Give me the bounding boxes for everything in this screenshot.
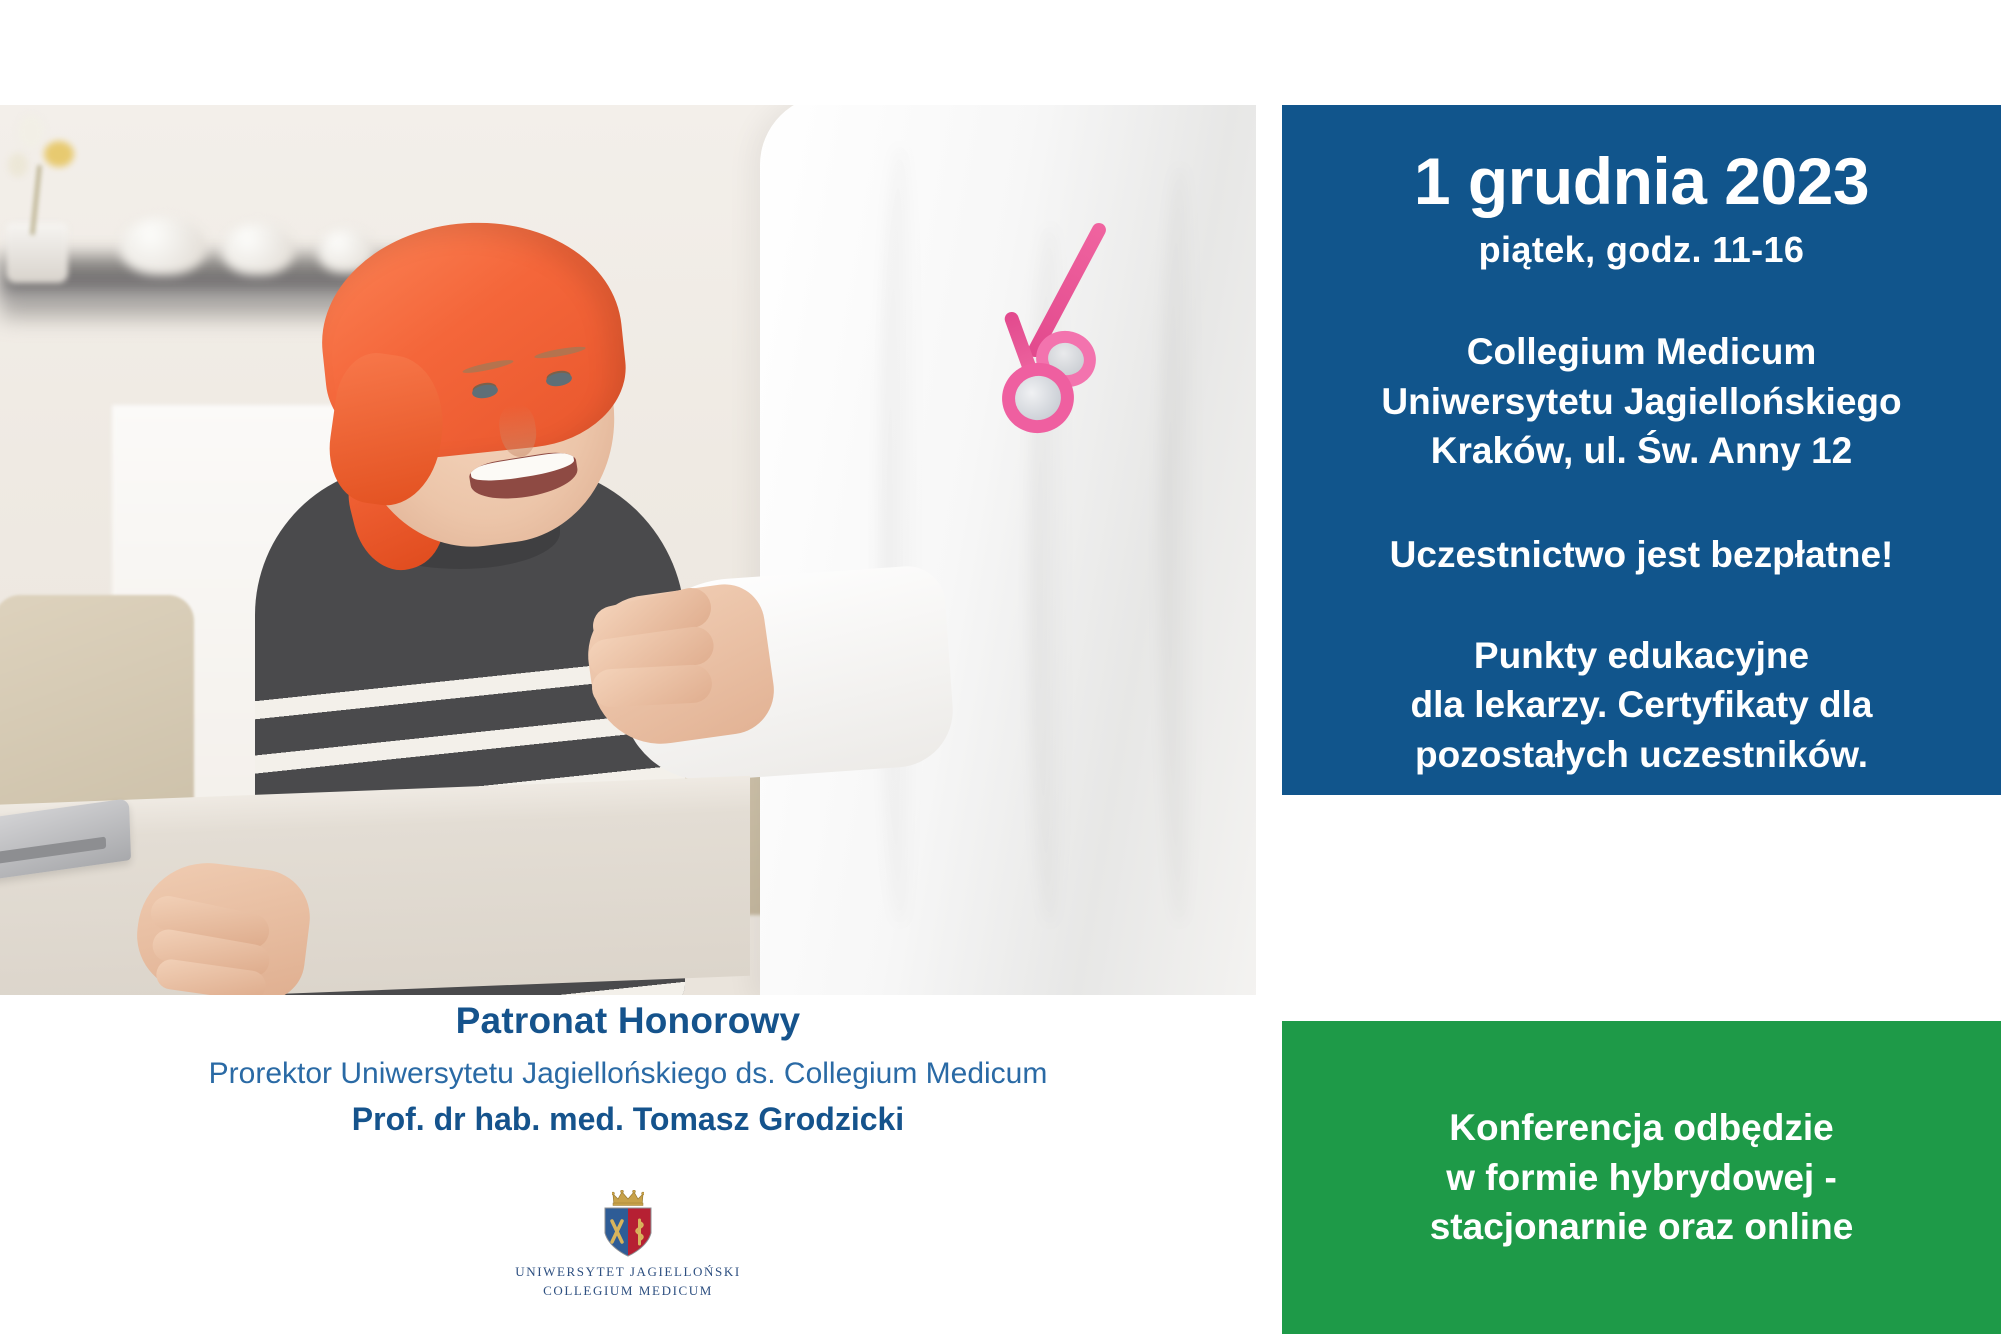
credits-line-2: dla lekarzy. Certyfikaty dla: [1316, 680, 1967, 729]
event-date: 1 grudnia 2023: [1316, 147, 1967, 216]
patronage-block: Patronat Honorowy Prorektor Uniwersytetu…: [0, 1000, 1256, 1138]
coat-fold: [1160, 165, 1200, 925]
patronage-person-name: Prof. dr hab. med. Tomasz Grodzicki: [0, 1101, 1256, 1138]
doctor-finger: [591, 664, 713, 708]
uj-logo-caption: UNIWERSYTET JAGIELLOŃSKI COLLEGIUM MEDIC…: [515, 1263, 741, 1301]
format-line-2: w formie hybrydowej -: [1430, 1153, 1854, 1203]
conference-poster: 1 grudnia 2023 piątek, godz. 11-16 Colle…: [0, 0, 2001, 1334]
conference-photo: [0, 105, 1256, 995]
uj-logo-line-1: UNIWERSYTET JAGIELLOŃSKI: [515, 1263, 741, 1282]
uj-collegium-medicum-logo: UNIWERSYTET JAGIELLOŃSKI COLLEGIUM MEDIC…: [0, 1190, 1256, 1301]
background-bowl: [222, 223, 294, 275]
crown-icon: [612, 1190, 644, 1206]
uj-logo-line-2: COLLEGIUM MEDICUM: [515, 1282, 741, 1301]
venue-line-3: Kraków, ul. Św. Anny 12: [1316, 426, 1967, 475]
background-flower: [44, 141, 74, 167]
venue-line-2: Uniwersytetu Jagiellońskiego: [1316, 377, 1967, 426]
credits-line-1: Punkty edukacyjne: [1316, 631, 1967, 680]
credits-line-3: pozostałych uczestników.: [1316, 730, 1967, 779]
conference-format-panel: Konferencja odbędzie w formie hybrydowej…: [1282, 1021, 2001, 1334]
event-day-time: piątek, godz. 11-16: [1316, 228, 1967, 271]
background-flower: [18, 115, 44, 149]
background-bowl: [120, 217, 206, 275]
venue-line-1: Collegium Medicum: [1316, 327, 1967, 376]
shield-icon: [604, 1207, 652, 1257]
format-line-3: stacjonarnie oraz online: [1430, 1202, 1854, 1252]
background-flower: [8, 153, 28, 177]
coat-fold: [880, 145, 920, 925]
event-info-panel: 1 grudnia 2023 piątek, godz. 11-16 Colle…: [1282, 105, 2001, 795]
uj-coat-of-arms-icon: [601, 1190, 655, 1258]
patronage-role: Prorektor Uniwersytetu Jagiellońskiego d…: [0, 1054, 1256, 1093]
patronage-title: Patronat Honorowy: [0, 1000, 1256, 1042]
background-plant-pot: [6, 223, 68, 283]
format-text: Konferencja odbędzie w formie hybrydowej…: [1400, 1103, 1884, 1252]
format-line-1: Konferencja odbędzie: [1430, 1103, 1854, 1153]
free-participation-notice: Uczestnictwo jest bezpłatne!: [1316, 531, 1967, 579]
event-venue: Collegium Medicum Uniwersytetu Jagielloń…: [1316, 327, 1967, 475]
education-credits-notice: Punkty edukacyjne dla lekarzy. Certyfika…: [1316, 631, 1967, 779]
